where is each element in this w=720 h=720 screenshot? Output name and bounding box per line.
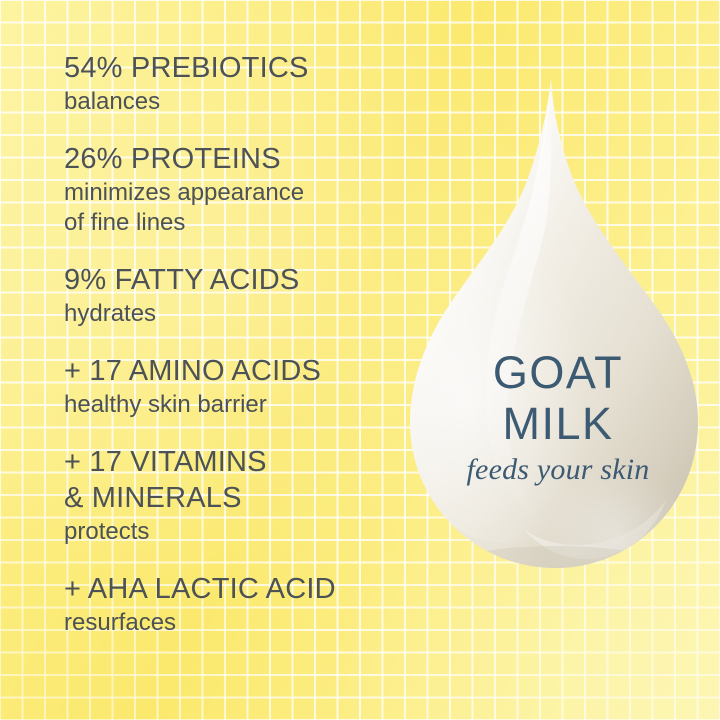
ingredient-headline: 9% FATTY ACIDS xyxy=(64,262,414,298)
ingredient-item: + 17 AMINO ACIDS healthy skin barrier xyxy=(64,353,414,420)
ingredient-item: + 17 VITAMINS & MINERALS protects xyxy=(64,444,414,547)
ingredient-headline: + 17 VITAMINS & MINERALS xyxy=(64,444,414,516)
droplet-rim-shading xyxy=(398,60,718,590)
product-infographic: 54% PREBIOTICS balances 26% PROTEINS min… xyxy=(0,0,720,720)
ingredient-description: minimizes appearance of fine lines xyxy=(64,178,414,238)
ingredient-description: balances xyxy=(64,87,414,117)
milk-droplet-icon xyxy=(398,60,718,590)
ingredient-headline: + AHA LACTIC ACID xyxy=(64,571,414,607)
ingredient-headline: 54% PREBIOTICS xyxy=(64,50,414,86)
ingredient-headline: 26% PROTEINS xyxy=(64,141,414,177)
ingredient-description: protects xyxy=(64,517,414,547)
ingredient-description: resurfaces xyxy=(64,608,414,638)
ingredient-headline: + 17 AMINO ACIDS xyxy=(64,353,414,389)
ingredient-description: healthy skin barrier xyxy=(64,390,414,420)
ingredient-item: 9% FATTY ACIDS hydrates xyxy=(64,262,414,329)
ingredient-item: 54% PREBIOTICS balances xyxy=(64,50,414,117)
ingredient-item: 26% PROTEINS minimizes appearance of fin… xyxy=(64,141,414,238)
ingredient-description: hydrates xyxy=(64,299,414,329)
ingredient-item: + AHA LACTIC ACID resurfaces xyxy=(64,571,414,638)
ingredient-list: 54% PREBIOTICS balances 26% PROTEINS min… xyxy=(64,50,414,638)
milk-droplet-graphic: GOAT MILK feeds your skin xyxy=(398,60,718,590)
